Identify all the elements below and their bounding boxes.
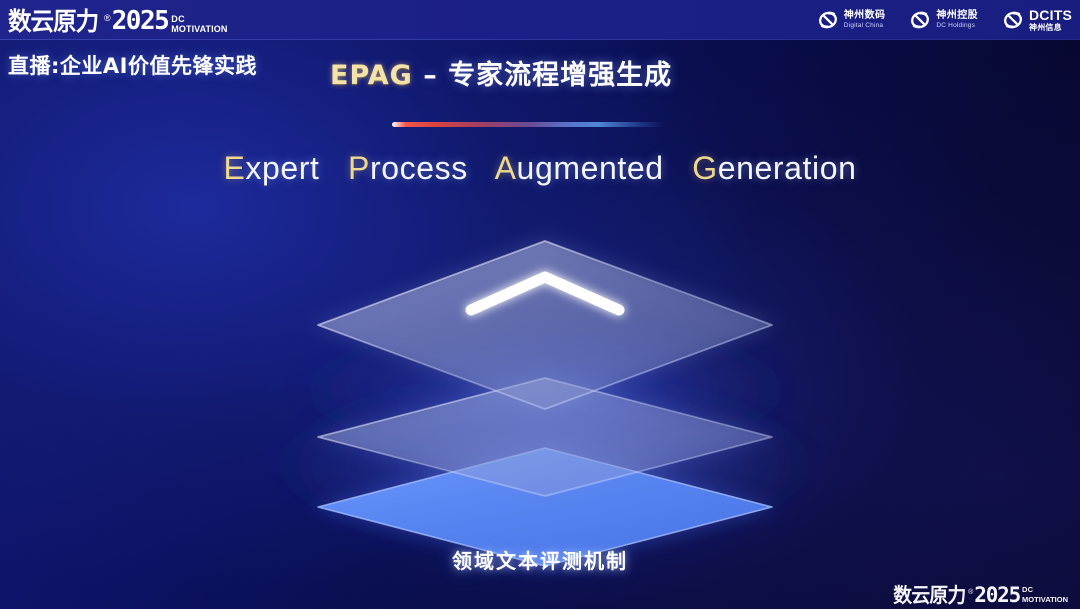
subtitle-rest: rocess (370, 150, 468, 186)
watermark-registered-mark: ® (968, 586, 973, 599)
stacked-layers-diagram: 领域文本评测机制 Dynamic MOE 长文本记忆 三类语义建模模块 (0, 215, 1080, 575)
watermark-motivation: MOTIVATION (1022, 595, 1068, 604)
subtitle-initial: G (692, 150, 718, 186)
page-title: EPAG – 专家流程增强生成 (330, 53, 672, 92)
subtitle-word-augmented: Augmented (495, 150, 664, 186)
header-band: 数云原力 ® 2025 DC MOTIVATION (0, 0, 1080, 40)
slide-canvas: 数云原力 ® 2025 DC MOTIVATION (0, 0, 1080, 609)
event-logo-dc-motivation: DC MOTIVATION (171, 15, 227, 33)
brand-name-cn: 神州控股 (936, 11, 978, 21)
footer-watermark-logo: 数云原力 ® 2025 DC MOTIVATION (891, 585, 1068, 605)
brand-name-cn: 神州信息 (1029, 24, 1072, 32)
page-title-separator: – (413, 60, 448, 91)
brand-name-en: DCITS (1029, 8, 1072, 22)
brand-logo-dcits: DCITS 神州信息 (1002, 8, 1072, 32)
subtitle-word-expert: Expert (223, 150, 319, 186)
subtitle-word-process: Process (348, 150, 468, 186)
brand-name-en: DC Holdings (936, 23, 978, 30)
event-logo-motivation: MOTIVATION (171, 25, 227, 33)
subtitle-rest: xpert (245, 150, 319, 186)
event-logo-name-cn: 数云原力 (8, 9, 98, 34)
subtitle-english: Expert Process Augmented Generation (0, 150, 1080, 187)
swirl-logo-icon (1002, 9, 1024, 31)
brand-label-digital-china: 神州数码 Digital China (844, 11, 886, 30)
subtitle-space (477, 150, 487, 186)
subtitle-rest: eneration (718, 150, 857, 186)
subtitle-initial: P (348, 150, 370, 186)
page-title-acronym: EPAG (330, 60, 413, 91)
brand-logo-digital-china: 神州数码 Digital China (817, 9, 886, 31)
swirl-logo-icon (909, 9, 931, 31)
event-logo-year: 2025 (112, 9, 169, 34)
watermark-dc: DC (1022, 585, 1068, 594)
watermark-year: 2025 (974, 585, 1020, 605)
watermark-dc-motivation: DC MOTIVATION (1022, 585, 1068, 604)
watermark-name-cn: 数云原力 (894, 585, 966, 605)
subtitle-initial: E (223, 150, 245, 186)
gradient-divider (392, 122, 664, 127)
subtitle-space (673, 150, 683, 186)
live-session-title: 直播:企业AI价值先锋实践 (8, 50, 257, 80)
brand-name-en: Digital China (844, 23, 886, 30)
event-logo: 数云原力 ® 2025 DC MOTIVATION (8, 4, 227, 34)
swirl-logo-icon (817, 9, 839, 31)
event-logo-dc: DC (171, 15, 227, 23)
subtitle-initial: A (495, 150, 517, 186)
subtitle-word-generation: Generation (692, 150, 856, 186)
brand-name-cn: 神州数码 (844, 11, 886, 21)
brand-logo-group: 神州数码 Digital China 神州控股 DC H (817, 5, 1072, 35)
brand-label-dc-holdings: 神州控股 DC Holdings (936, 11, 978, 30)
brand-label-dcits: DCITS 神州信息 (1029, 8, 1072, 32)
subtitle-rest: ugmented (517, 150, 664, 186)
event-logo-registered-mark: ® (104, 10, 111, 26)
brand-logo-dc-holdings: 神州控股 DC Holdings (909, 9, 978, 31)
page-title-chinese: 专家流程增强生成 (448, 60, 672, 91)
subtitle-space (329, 150, 339, 186)
